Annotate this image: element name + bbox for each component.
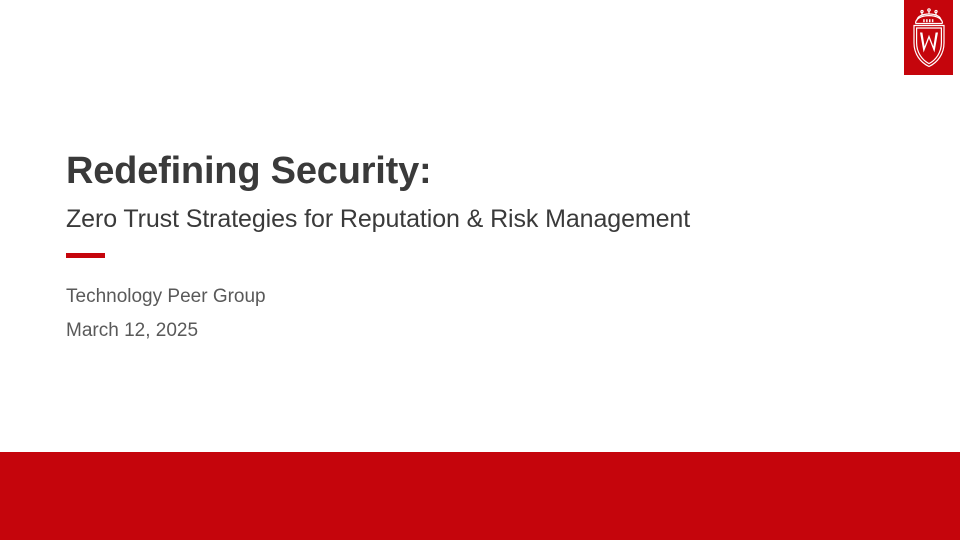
accent-divider bbox=[66, 253, 105, 258]
slide-meta: Technology Peer Group March 12, 2025 bbox=[66, 280, 266, 348]
footer-brand-band bbox=[0, 452, 960, 540]
page-subtitle: Zero Trust Strategies for Reputation & R… bbox=[66, 205, 690, 234]
uw-madison-crest-icon bbox=[909, 7, 949, 69]
page-title: Redefining Security: bbox=[66, 152, 432, 192]
meta-line-audience: Technology Peer Group bbox=[66, 280, 266, 314]
title-slide: Redefining Security: Zero Trust Strategi… bbox=[0, 0, 960, 540]
uw-madison-logo bbox=[904, 0, 953, 75]
meta-line-date: March 12, 2025 bbox=[66, 314, 266, 348]
